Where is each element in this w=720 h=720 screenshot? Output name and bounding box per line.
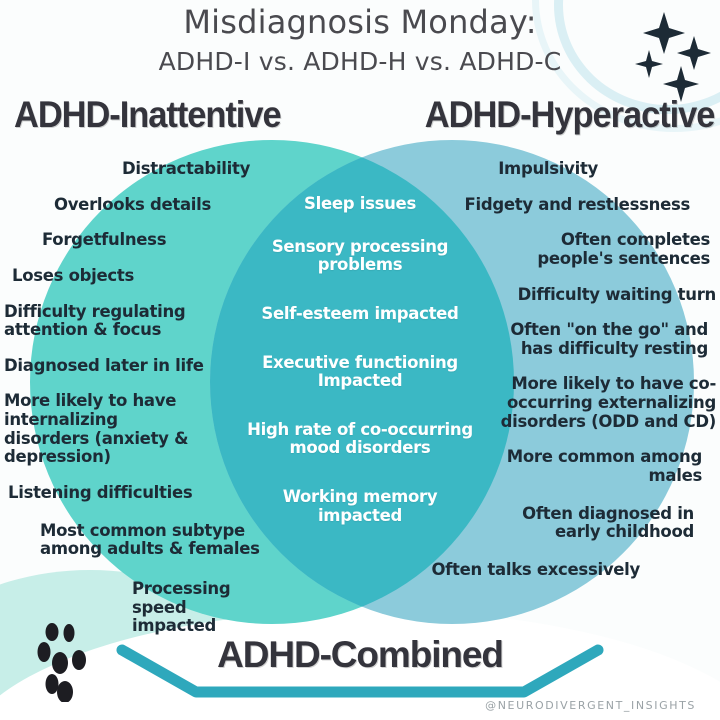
watermark-handle: @NEURODIVERGENT_INSIGHTS	[485, 699, 696, 712]
list-item: Fidgety and restlessness	[465, 196, 690, 215]
list-item: Overlooks details	[54, 196, 211, 215]
list-item: Loses objects	[12, 267, 134, 286]
list-item: Difficulty regulatingattention & focus	[4, 303, 185, 340]
list-item: Listening difficulties	[8, 484, 192, 503]
list-item: Executive functioningImpacted	[262, 354, 458, 391]
list-item: Self-esteem impacted	[261, 305, 458, 324]
list-item: Sensory processingproblems	[272, 238, 448, 275]
list-item: Processing speedimpacted	[132, 580, 272, 636]
list-item: More likely to haveinternalizingdisorder…	[4, 392, 188, 467]
list-item: Sleep issues	[304, 195, 416, 214]
infographic-canvas: Misdiagnosis Monday: ADHD-I vs. ADHD-H v…	[0, 0, 720, 720]
list-item: Often diagnosed inearly childhood	[522, 505, 694, 542]
list-item: Diagnosed later in life	[4, 357, 204, 376]
heading-adhd-combined: ADHD-Combined	[0, 634, 720, 676]
page-subtitle: ADHD-I vs. ADHD-H vs. ADHD-C	[0, 47, 720, 76]
list-item: Often completespeople's sentences	[537, 231, 710, 268]
list-item: Difficulty waiting turn	[518, 286, 716, 305]
list-item: Working memoryimpacted	[283, 488, 438, 525]
list-item: More likely to have co-occurring externa…	[501, 375, 716, 431]
list-item: Often "on the go" andhas difficulty rest…	[510, 321, 708, 358]
list-item: Forgetfulness	[42, 231, 166, 250]
list-item: Impulsivity	[498, 160, 598, 179]
title-block: Misdiagnosis Monday: ADHD-I vs. ADHD-H v…	[0, 4, 720, 76]
heading-adhd-inattentive: ADHD-Inattentive	[14, 94, 281, 136]
heading-adhd-hyperactive: ADHD-Hyperactive	[424, 94, 714, 136]
list-item: High rate of co-occurringmood disorders	[247, 421, 473, 458]
list-item: Often talks excessively	[431, 561, 640, 580]
page-title: Misdiagnosis Monday:	[0, 4, 720, 41]
list-item: Most common subtypeamong adults & female…	[40, 522, 260, 559]
list-item: More common amongmales	[507, 448, 702, 485]
list-item: Distractability	[122, 160, 250, 179]
